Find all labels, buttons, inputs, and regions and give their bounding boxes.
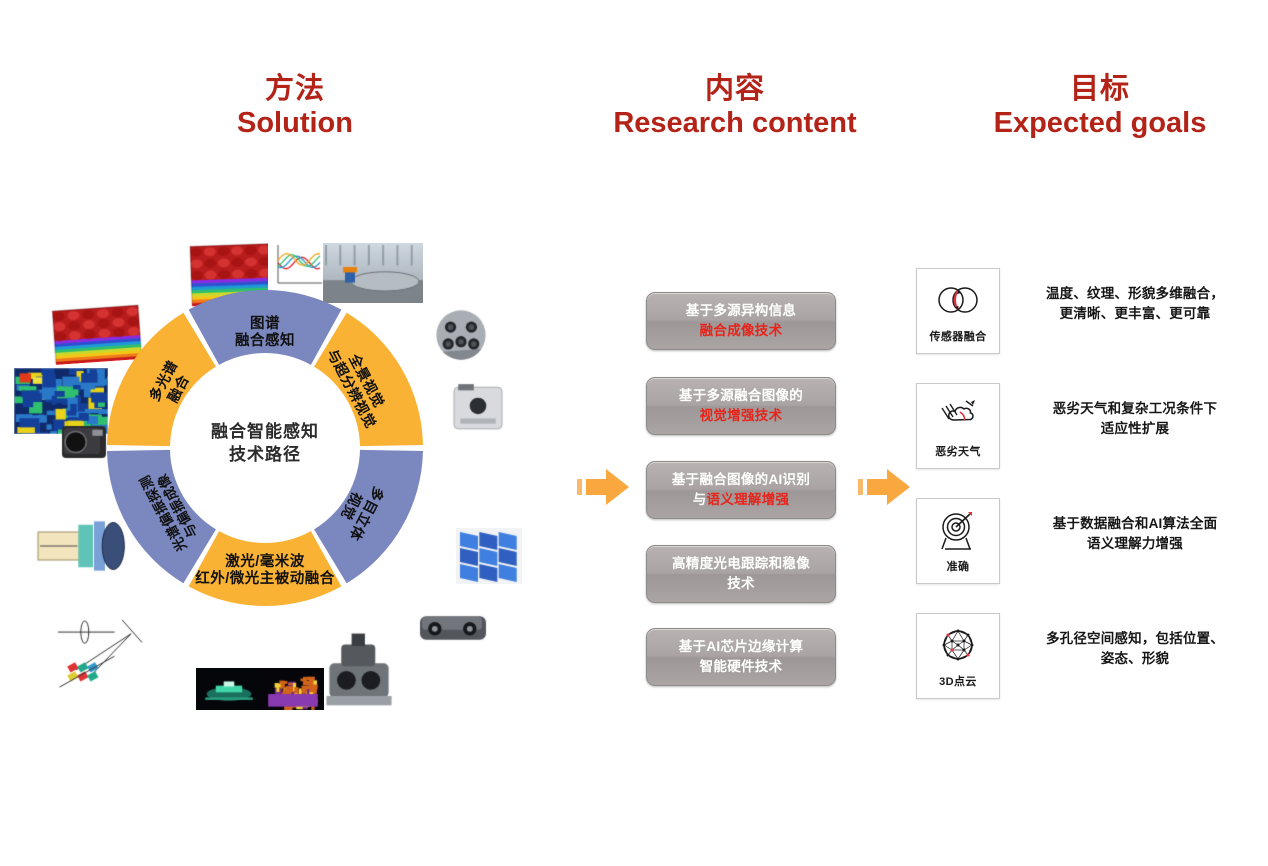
goal-point-cloud-card[interactable]: 3D点云 [916,613,1000,699]
column-header-solution-cn: 方法 [155,73,435,105]
column-header-research-en: Research content [555,107,915,139]
thumb-black-camera [58,420,110,464]
thumb-multicam-ball [432,307,490,363]
box-tracking-line2-plain: 技术 [727,576,755,591]
goal-bad-weather-row: 恶劣天气恶劣天气和复杂工况条件下适应性扩展 [916,383,1250,469]
box-edge-computing-line2-plain: 智能硬件技术 [700,659,783,674]
thumb-stereo-bar [418,607,488,649]
goal-bad-weather-description-line2: 适应性扩展 [1020,419,1250,439]
box-visual-enhance-line2-highlight: 视觉增强技术 [700,408,783,423]
goal-sensor-fusion-caption: 传感器融合 [930,328,987,344]
column-header-goals-cn: 目标 [950,73,1250,105]
goal-accuracy-description-line1: 基于数据融合和AI算法全面 [1020,514,1250,534]
venn-circles-icon [932,277,984,323]
box-fusion-imaging-line2-highlight: 融合成像技术 [700,323,783,338]
box-ai-semantics-line2: 与语义理解增强 [693,490,790,510]
column-header-goals: 目标 Expected goals [950,73,1250,140]
box-fusion-imaging-line1: 基于多源异构信息 [686,301,796,321]
box-ai-semantics-line2-highlight: 语义理解增强 [707,492,790,507]
donut-center-line2: 技术路径 [105,444,425,467]
goal-sensor-fusion-description-line2: 更清晰、更丰富、更可靠 [1020,304,1250,324]
goal-accuracy-description-line2: 语义理解力增强 [1020,534,1250,554]
goal-accuracy-description: 基于数据融合和AI算法全面语义理解力增强 [1020,514,1250,555]
thumb-blue-panel [456,528,522,584]
goal-point-cloud-description: 多孔径空间感知，包括位置、姿态、形貌 [1020,629,1250,670]
goal-sensor-fusion-description-line1: 温度、纹理、形貌多维融合， [1020,284,1250,304]
box-tracking-line1: 高精度光电跟踪和稳像 [672,554,810,574]
thumb-gimbal-turret [322,632,396,710]
column-header-solution-en: Solution [155,107,435,139]
box-fusion-imaging[interactable]: 基于多源异构信息融合成像技术 [646,292,836,350]
fusion-technology-donut: 融合智能感知 技术路径 图谱 融合感知 全景视觉 与超分辨视觉 多目立体 视觉 … [105,288,425,608]
box-tracking-line2: 技术 [727,574,755,594]
donut-center-label: 融合智能感知 技术路径 [105,421,425,467]
thumb-polarizer-schematic [54,608,164,694]
diagram-canvas: 方法 Solution 内容 Research content 目标 Expec… [0,0,1268,866]
donut-segment-laser-mmwave-ir-fusion[interactable] [189,531,342,606]
point-cloud-sphere-icon [932,622,984,668]
goal-bad-weather-description-line1: 恶劣天气和复杂工况条件下 [1020,399,1250,419]
target-dartboard-icon [932,507,984,553]
box-edge-computing[interactable]: 基于AI芯片边缘计算智能硬件技术 [646,628,836,686]
thumb-lab-instrument [452,381,504,433]
goal-bad-weather-description: 恶劣天气和复杂工况条件下适应性扩展 [1020,399,1250,440]
goal-accuracy-row: 准确基于数据融合和AI算法全面语义理解力增强 [916,498,1250,584]
column-header-goals-en: Expected goals [950,107,1250,139]
box-visual-enhance-line1: 基于多源融合图像的 [679,386,803,406]
box-ai-semantics[interactable]: 基于融合图像的AI识别与语义理解增强 [646,461,836,519]
donut-segment-multi-view-stereo[interactable] [314,450,423,583]
column-header-solution: 方法 Solution [155,73,435,140]
goal-bad-weather-card[interactable]: 恶劣天气 [916,383,1000,469]
box-ai-semantics-line1: 基于融合图像的AI识别 [672,470,810,490]
box-edge-computing-line1: 基于AI芯片边缘计算 [679,637,804,657]
donut-center-line1: 融合智能感知 [105,421,425,444]
column-header-research: 内容 Research content [555,73,915,140]
goal-sensor-fusion-row: 传感器融合温度、纹理、形貌多维融合，更清晰、更丰富、更可靠 [916,268,1250,354]
box-fusion-imaging-line2: 融合成像技术 [700,321,783,341]
arrow-solution-to-research-icon [571,460,635,514]
donut-segment-map-fusion-sensing[interactable] [189,290,342,365]
donut-segment-laser-spectrum-detect[interactable] [107,450,216,583]
rain-cloud-icon [932,392,984,438]
goal-point-cloud-caption: 3D点云 [939,673,977,689]
box-ai-semantics-line2-plain: 与 [693,492,707,507]
box-visual-enhance-line2: 视觉增强技术 [700,406,783,426]
thumb-nightvision-left [196,668,262,710]
box-visual-enhance[interactable]: 基于多源融合图像的视觉增强技术 [646,377,836,435]
goal-accuracy-caption: 准确 [947,558,970,574]
box-tracking[interactable]: 高精度光电跟踪和稳像技术 [646,545,836,603]
goal-point-cloud-description-line2: 姿态、形貌 [1020,649,1250,669]
thumb-spectrum-plot [268,241,326,293]
goal-accuracy-card[interactable]: 准确 [916,498,1000,584]
box-edge-computing-line2: 智能硬件技术 [700,657,783,677]
column-header-research-cn: 内容 [555,73,915,105]
goal-sensor-fusion-card[interactable]: 传感器融合 [916,268,1000,354]
arrow-research-to-goals-icon [852,460,916,514]
goal-sensor-fusion-description: 温度、纹理、形貌多维融合，更清晰、更丰富、更可靠 [1020,284,1250,325]
goal-point-cloud-description-line1: 多孔径空间感知，包括位置、 [1020,629,1250,649]
thumb-nightvision-right [262,668,324,710]
goal-bad-weather-caption: 恶劣天气 [935,443,981,459]
goal-point-cloud-row: 3D点云多孔径空间感知，包括位置、姿态、形貌 [916,613,1250,699]
